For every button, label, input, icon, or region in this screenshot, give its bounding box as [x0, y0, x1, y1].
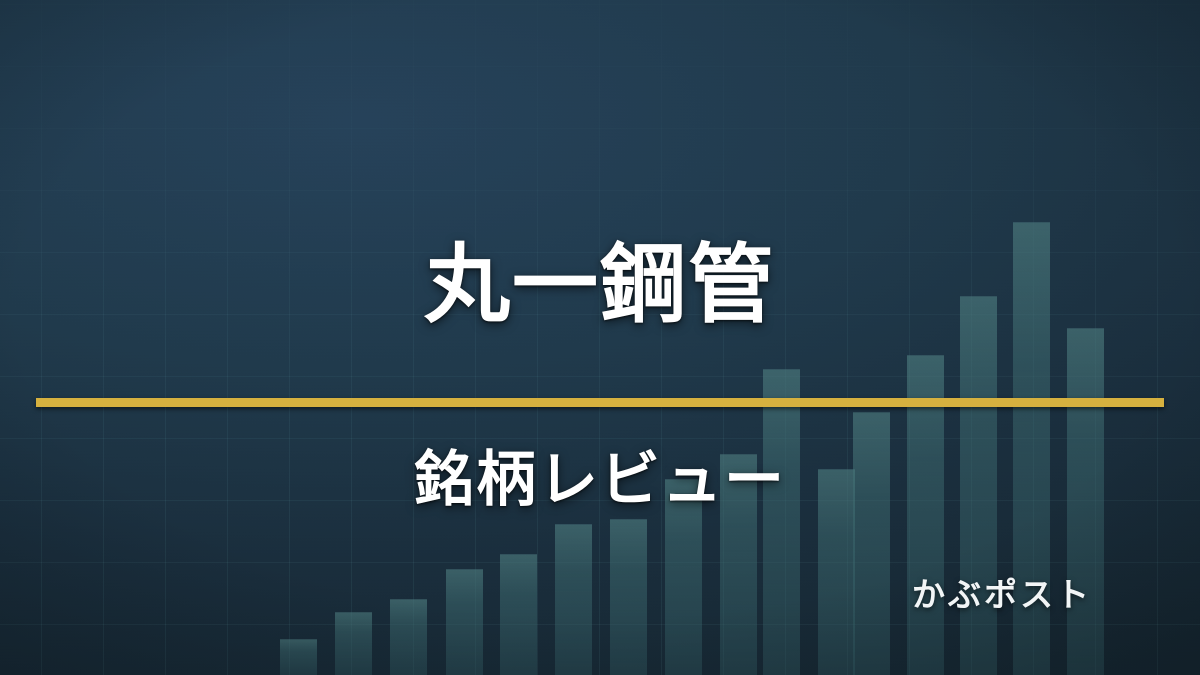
gold-divider [36, 398, 1164, 407]
brand-label: かぶポスト [912, 568, 1092, 616]
page-title: 丸一鋼管 [0, 240, 1200, 330]
title-slide: 丸一鋼管 銘柄レビュー かぶポスト [0, 0, 1200, 675]
slide-content: 丸一鋼管 銘柄レビュー かぶポスト [0, 0, 1200, 675]
page-subtitle: 銘柄レビュー [0, 447, 1200, 513]
